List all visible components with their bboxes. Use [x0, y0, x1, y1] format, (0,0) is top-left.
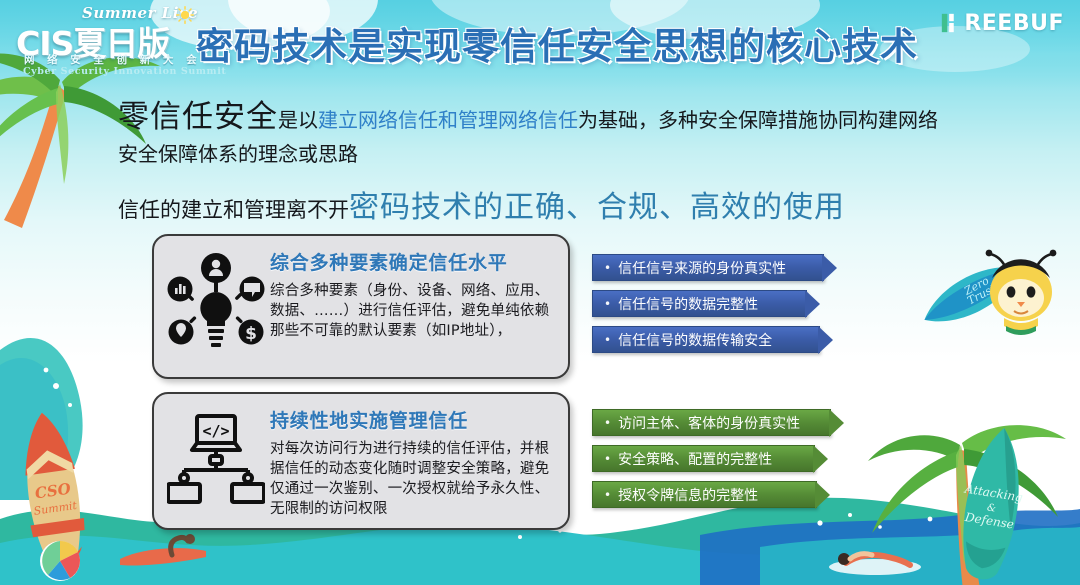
- arrow-banner-label: 安全策略、配置的完整性: [618, 449, 772, 469]
- card-multi-factor-trust: $ 综合多种要素确定信任水平 综合多种要素（身份、设备、网络、应用、数据、……）…: [152, 234, 570, 379]
- card-icon-slot: </>: [164, 406, 268, 510]
- card-continuous-trust: </> 持续性地实施管理信任 对每次访问行为进行持续的信任评估，并根据信任的动态…: [152, 392, 570, 530]
- card-body: 综合多种要素确定信任水平 综合多种要素（身份、设备、网络、应用、数据、……）进行…: [268, 248, 554, 341]
- freebuf-text: REEBUF: [964, 11, 1064, 36]
- paragraph-line3-teal: 密码技术的正确、合规、高效的使用: [349, 190, 845, 225]
- card-title: 综合多种要素确定信任水平: [270, 248, 554, 275]
- access-integrity-group: • 访问主体、客体的身份真实性 • 安全策略、配置的完整性 • 授权令牌信息的完…: [592, 409, 831, 517]
- arrow-tip-icon: [813, 445, 828, 473]
- multi-factor-trust-icon: $: [167, 252, 265, 356]
- card-body: 持续性地实施管理信任 对每次访问行为进行持续的信任评估，并根据信任的动态变化随时…: [268, 406, 554, 519]
- arrow-banner[interactable]: • 信任信号的数据传输安全: [592, 326, 820, 353]
- arrow-banner-label: 授权令牌信息的完整性: [618, 485, 758, 505]
- paragraph-text-b: 为基础，多种安全保障措施协同构建网络: [578, 108, 938, 132]
- arrow-tip-icon: [815, 481, 830, 509]
- card-title: 持续性地实施管理信任: [270, 406, 554, 433]
- bullet-icon: •: [604, 333, 611, 347]
- paragraph-text-a: 是以: [278, 108, 318, 132]
- arrow-tip-icon: [805, 290, 820, 318]
- arrow-banner-label: 访问主体、客体的身份真实性: [618, 413, 800, 433]
- paragraph-line-1: 零信任安全是以建立网络信任和管理网络信任为基础，多种安全保障措施协同构建网络: [118, 100, 1038, 137]
- bullet-icon: •: [604, 261, 611, 275]
- paragraph-highlight-blue: 建立网络信任和管理网络信任: [318, 108, 578, 132]
- bullet-icon: •: [604, 416, 611, 430]
- arrow-banner-label: 信任信号的数据传输安全: [618, 330, 772, 350]
- zero-trust-lead: 零信任安全: [118, 99, 278, 135]
- trust-signal-group: • 信任信号来源的身份真实性 • 信任信号的数据完整性 • 信任信号的数据传输安…: [592, 254, 824, 362]
- bullet-icon: •: [604, 297, 611, 311]
- cis-subtitle-cn: 网 络 安 全 创 新 大 会: [24, 52, 201, 67]
- sun-icon: [176, 6, 194, 24]
- arrow-banner[interactable]: • 信任信号来源的身份真实性: [592, 254, 824, 281]
- bee-mascot: Zero Trust: [900, 244, 1070, 384]
- paragraph-block: 零信任安全是以建立网络信任和管理网络信任为基础，多种安全保障措施协同构建网络 安…: [118, 100, 1038, 226]
- surfer-figure-right: [820, 533, 930, 581]
- svg-text:$: $: [245, 324, 257, 344]
- cis-subtitle-en: Cyber Security Innovation Summit: [23, 66, 226, 77]
- arrow-banner[interactable]: • 访问主体、客体的身份真实性: [592, 409, 831, 436]
- arrow-banner[interactable]: • 信任信号的数据完整性: [592, 290, 807, 317]
- paragraph-line3-black: 信任的建立和管理离不开: [118, 198, 349, 222]
- freebuf-mark-icon: [940, 12, 962, 34]
- freebuf-logo: REEBUF: [940, 10, 1064, 36]
- card-icon-slot: $: [164, 248, 268, 356]
- continuous-network-icon: </>: [167, 410, 265, 510]
- paragraph-line-2: 安全保障体系的理念或思路: [118, 139, 1038, 169]
- surfboard-attacking-defense: Attacking & Defense: [942, 425, 1042, 585]
- arrow-tip-icon: [818, 326, 833, 354]
- page-title: 密码技术是实现零信任安全思想的核心技术: [196, 16, 918, 70]
- arrow-tip-icon: [822, 254, 837, 282]
- bullet-icon: •: [604, 452, 611, 466]
- bullet-icon: •: [604, 488, 611, 502]
- bee-mascot-icon: Zero Trust: [900, 244, 1070, 384]
- card-text: 对每次访问行为进行持续的信任评估，并根据信任的动态变化随时调整安全策略，避免仅通…: [270, 439, 554, 519]
- arrow-banner[interactable]: • 授权令牌信息的完整性: [592, 481, 817, 508]
- arrow-banner[interactable]: • 安全策略、配置的完整性: [592, 445, 815, 472]
- svg-text:</>: </>: [202, 422, 229, 440]
- arrow-tip-icon: [829, 409, 844, 437]
- paragraph-line-3: 信任的建立和管理离不开密码技术的正确、合规、高效的使用: [118, 182, 1038, 226]
- cis-logo: Summer Live CIS夏日版 网 络 安 全 创 新 大 会 Cyber…: [14, 4, 204, 80]
- beach-ball-icon: [38, 539, 82, 583]
- arrow-banner-label: 信任信号的数据完整性: [618, 294, 758, 314]
- arrow-banner-label: 信任信号来源的身份真实性: [618, 258, 786, 278]
- card-text: 综合多种要素（身份、设备、网络、应用、数据、……）进行信任评估，避免单纯依赖那些…: [270, 281, 554, 341]
- slide-canvas: Summer Live CIS夏日版 网 络 安 全 创 新 大 会 Cyber…: [0, 0, 1080, 585]
